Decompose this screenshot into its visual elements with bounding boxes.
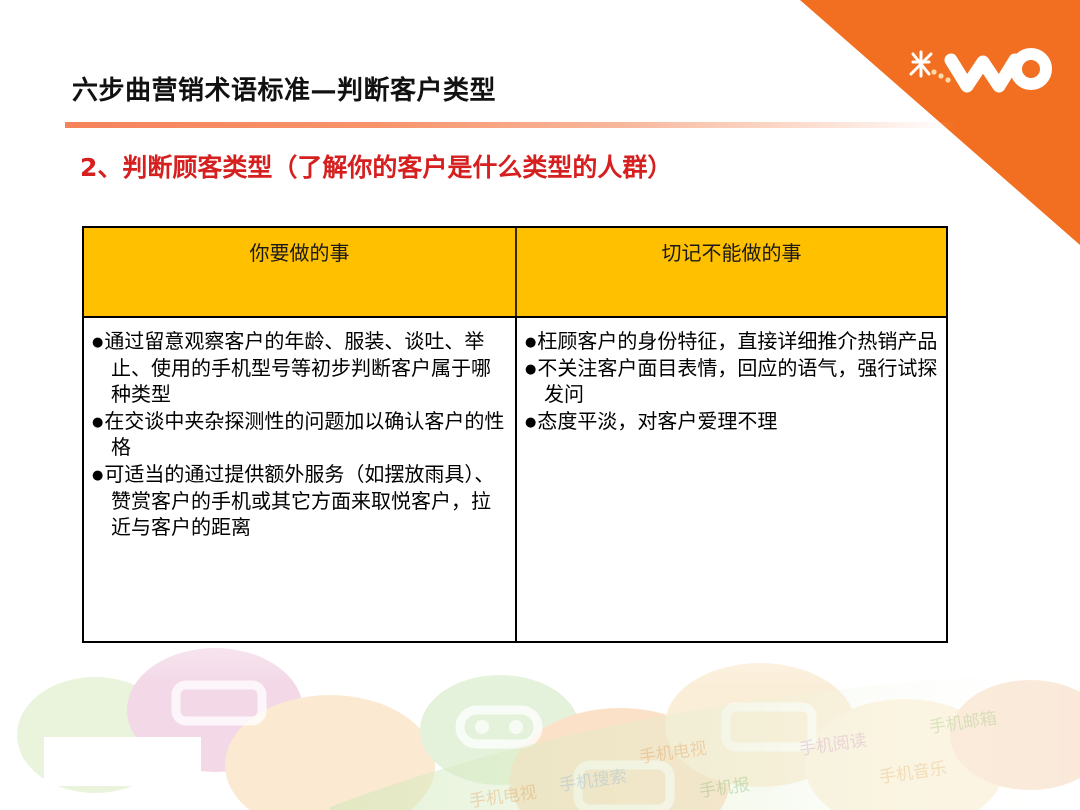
svg-text:手机电视: 手机电视 [468, 783, 538, 810]
china-unicom-wo-logo [907, 42, 1052, 102]
list-item: 在交谈中夹杂探测性的问题加以确认客户的性格 [92, 408, 507, 461]
list-item: 枉顾客户的身份特征，直接详细推介热销产品 [525, 328, 938, 355]
table-header-cell-dont: 切记不能做的事 [515, 228, 946, 316]
do-bullet-list: 通过留意观察客户的年龄、服装、谈吐、举止、使用的手机型号等初步判断客户属于哪种类… [92, 328, 507, 541]
column-header-label: 切记不能做的事 [662, 237, 802, 266]
list-item: 不关注客户面目表情，回应的语气，强行试探发问 [525, 355, 938, 408]
svg-text:手机报: 手机报 [698, 775, 751, 802]
table-header-row: 你要做的事 切记不能做的事 [84, 228, 946, 316]
column-header-label: 你要做的事 [250, 237, 350, 266]
list-item: 态度平淡，对客户爱理不理 [525, 408, 938, 435]
title-divider-rule [65, 122, 955, 128]
slide-canvas: 手机电视 手机搜索 手机报 手机阅读 手机音乐 手机邮箱 手机电视 [0, 0, 1080, 810]
dont-bullet-list: 枉顾客户的身份特征，直接详细推介热销产品 不关注客户面目表情，回应的语气，强行试… [525, 328, 938, 434]
list-item: 可适当的通过提供额外服务（如摆放雨具）、赞赏客户的手机或其它方面来取悦客户，拉近… [92, 461, 507, 541]
comparison-table: 你要做的事 切记不能做的事 通过留意观察客户的年龄、服装、谈吐、举止、使用的手机… [82, 226, 948, 643]
table-cell-dont-list: 枉顾客户的身份特征，直接详细推介热销产品 不关注客户面目表情，回应的语气，强行试… [515, 318, 946, 641]
svg-text:手机阅读: 手机阅读 [798, 731, 868, 760]
table-header-cell-do: 你要做的事 [84, 228, 515, 316]
svg-text:手机搜索: 手机搜索 [558, 767, 628, 796]
table-row: 通过留意观察客户的年龄、服装、谈吐、举止、使用的手机型号等初步判断客户属于哪种类… [84, 316, 946, 641]
svg-text:手机音乐: 手机音乐 [878, 759, 948, 788]
section-subtitle: 2、判断顾客类型（了解你的客户是什么类型的人群） [80, 148, 672, 184]
blank-placeholder-box [44, 737, 201, 786]
table-cell-do-list: 通过留意观察客户的年龄、服装、谈吐、举止、使用的手机型号等初步判断客户属于哪种类… [84, 318, 515, 641]
list-item: 通过留意观察客户的年龄、服装、谈吐、举止、使用的手机型号等初步判断客户属于哪种类… [92, 328, 507, 408]
page-title: 六步曲营销术语标准—判断客户类型 [72, 70, 496, 107]
svg-text:手机电视: 手机电视 [638, 739, 708, 768]
svg-text:手机邮箱: 手机邮箱 [928, 709, 998, 738]
